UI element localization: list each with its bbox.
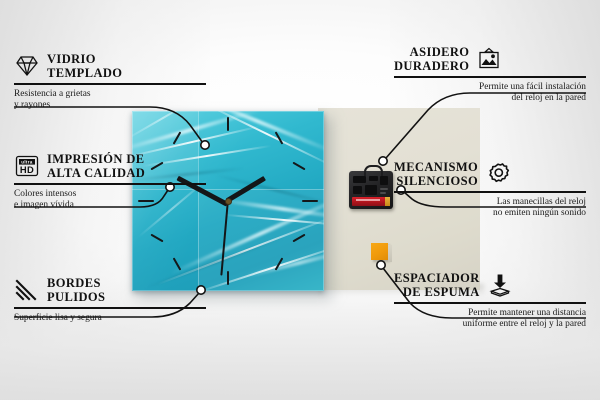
callout-heading: ultra HD IMPRESIÓN DE ALTA CALIDAD — [14, 152, 206, 180]
callout-title: BORDES PULIDOS — [47, 276, 105, 304]
callout-subtitle: Superficie lisa y segura — [14, 313, 206, 324]
callout-title: ESPACIADOR DE ESPUMA — [394, 271, 480, 299]
callout-rule — [394, 76, 586, 78]
callout-subtitle: Las manecillas del reloj no emiten ningú… — [394, 197, 586, 220]
callout-espaciador-de-espuma: ESPACIADOR DE ESPUMA Permite mantener un… — [394, 271, 586, 330]
callout-bordes-pulidos: BORDES PULIDOS Superficie lisa y segura — [14, 276, 206, 324]
callout-heading: ASIDERO DURADERO — [394, 45, 586, 73]
callout-heading: VIDRIO TEMPLADO — [14, 52, 206, 80]
svg-text:HD: HD — [20, 164, 34, 175]
connector-endpoint-asidero — [379, 157, 387, 165]
gear-icon — [485, 162, 511, 186]
callout-subtitle: Resistencia a grietas y rayones — [14, 89, 206, 112]
callout-rule — [14, 183, 206, 185]
callout-heading: MECANISMO SILENCIOSO — [394, 160, 586, 188]
callout-mecanismo-silencioso: MECANISMO SILENCIOSO Las manecillas del … — [394, 160, 586, 219]
callout-subtitle: Permite una fácil instalación del reloj … — [394, 82, 586, 105]
callout-title: MECANISMO SILENCIOSO — [394, 160, 478, 188]
connector-vidrio-templado — [14, 107, 203, 143]
callout-rule — [14, 83, 206, 85]
callout-heading: ESPACIADOR DE ESPUMA — [394, 271, 586, 299]
callout-impresion-alta-calidad: ultra HD IMPRESIÓN DE ALTA CALIDAD Color… — [14, 152, 206, 211]
callout-title: ASIDERO DURADERO — [394, 45, 469, 73]
diamond-icon — [14, 54, 40, 78]
ultra-hd-icon: ultra HD — [14, 154, 40, 178]
connector-endpoint-vidrio-templado — [201, 141, 209, 149]
callout-rule — [394, 302, 586, 304]
infographic-canvas: VIDRIO TEMPLADO Resistencia a grietas y … — [0, 0, 600, 400]
callout-vidrio-templado: VIDRIO TEMPLADO Resistencia a grietas y … — [14, 52, 206, 111]
callout-subtitle: Colores intensos e imagen vívida — [14, 189, 206, 212]
callout-rule — [394, 191, 586, 193]
foam-spacer-icon — [487, 273, 513, 297]
callout-asidero-duradero: ASIDERO DURADERO Permite una fácil insta… — [394, 45, 586, 104]
callout-title: IMPRESIÓN DE ALTA CALIDAD — [47, 152, 145, 180]
polished-edges-icon — [14, 278, 40, 302]
picture-frame-icon — [476, 47, 502, 71]
callout-subtitle: Permite mantener una distancia uniforme … — [394, 308, 586, 331]
connector-endpoint-espaciador — [377, 261, 385, 269]
callout-heading: BORDES PULIDOS — [14, 276, 206, 304]
callout-rule — [14, 307, 206, 309]
callout-title: VIDRIO TEMPLADO — [47, 52, 122, 80]
